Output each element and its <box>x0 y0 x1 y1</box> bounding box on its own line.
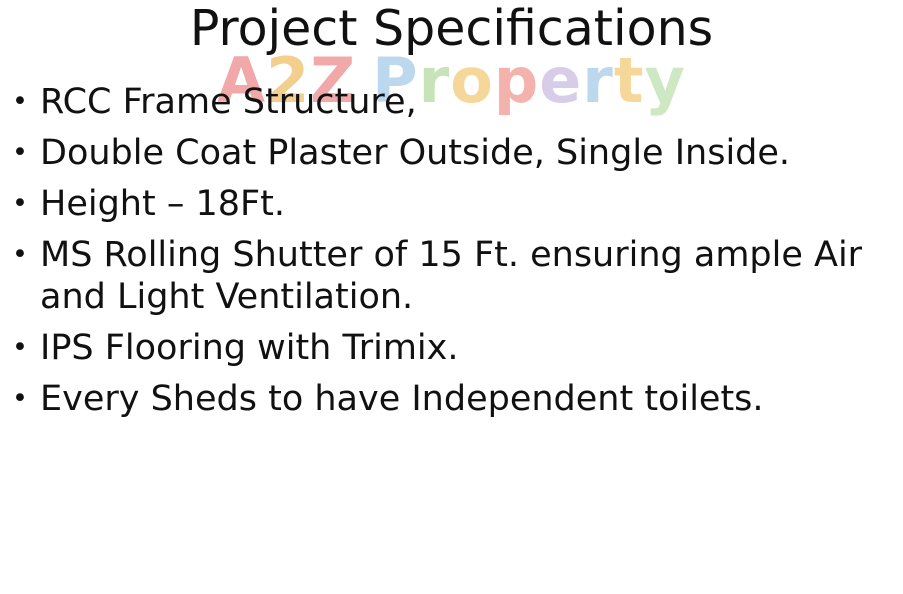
list-item-text: Double Coat Plaster Outside, Single Insi… <box>40 132 903 174</box>
bullet-marker-icon: • <box>0 183 40 225</box>
bullet-marker-icon: • <box>0 81 40 123</box>
list-item-text: MS Rolling Shutter of 15 Ft. ensuring am… <box>40 234 903 318</box>
list-item: • Double Coat Plaster Outside, Single In… <box>0 132 903 174</box>
bullet-marker-icon: • <box>0 132 40 174</box>
bullet-marker-icon: • <box>0 378 40 420</box>
list-item: • MS Rolling Shutter of 15 Ft. ensuring … <box>0 234 903 318</box>
slide-title: Project Specifications <box>0 0 903 55</box>
list-item-text: RCC Frame Structure, <box>40 81 903 123</box>
list-item: • Height – 18Ft. <box>0 183 903 225</box>
list-item-text: IPS Flooring with Trimix. <box>40 327 903 369</box>
list-item: • Every Sheds to have Independent toilet… <box>0 378 903 420</box>
bullet-marker-icon: • <box>0 234 40 276</box>
slide-canvas: A2Z Property Project Specifications • RC… <box>0 0 903 594</box>
list-item-text: Every Sheds to have Independent toilets. <box>40 378 903 420</box>
list-item-text: Height – 18Ft. <box>40 183 903 225</box>
list-item: • RCC Frame Structure, <box>0 81 903 123</box>
bullet-marker-icon: • <box>0 327 40 369</box>
list-item: • IPS Flooring with Trimix. <box>0 327 903 369</box>
specifications-list: • RCC Frame Structure, • Double Coat Pla… <box>0 81 903 420</box>
